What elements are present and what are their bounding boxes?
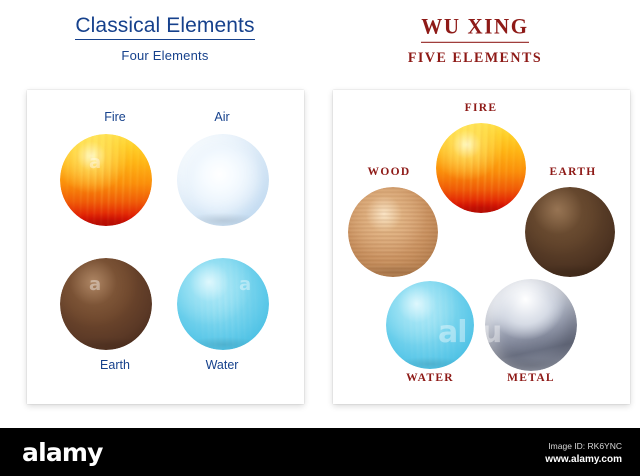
sphere-shading [177,134,269,226]
element-sphere-earth [60,258,152,350]
left-panel-heading: Classical Elements Four Elements [10,14,320,63]
element-sphere-wood [348,187,438,277]
element-label-earth: Earth [55,358,175,372]
element-label-metal: METAL [471,372,591,384]
image-id-text: Image ID: RK6YNC [545,441,622,452]
right-panel-subtitle: FIVE ELEMENTS [320,51,630,67]
sphere-texture [348,187,438,277]
element-label-water: Water [162,358,282,372]
element-sphere-fire [60,134,152,226]
element-sphere-air [177,134,269,226]
element-label-wood: WOOD [329,166,449,178]
sphere-texture [60,134,152,226]
left-panel-subtitle: Four Elements [10,48,320,63]
element-label-air: Air [162,110,282,124]
alamy-logo: alamy [22,440,103,465]
element-sphere-metal [485,279,577,371]
sphere-texture [386,281,474,369]
element-label-fire: Fire [55,110,175,124]
footer-metadata: Image ID: RK6YNC www.alamy.com [545,441,622,467]
element-sphere-fire [436,123,526,213]
sphere-texture [177,258,269,350]
right-panel-heading: WU XING FIVE ELEMENTS [320,14,630,67]
alamy-url-text: www.alamy.com [545,453,622,467]
sphere-texture [436,123,526,213]
element-label-earth: EARTH [513,166,633,178]
element-label-fire: FIRE [421,102,541,114]
element-sphere-water [386,281,474,369]
right-panel-title: WU XING [421,13,528,43]
element-sphere-water [177,258,269,350]
sphere-shading [525,187,615,277]
left-panel-title: Classical Elements [75,14,254,40]
element-sphere-earth [525,187,615,277]
artwork-stage: Classical Elements Four Elements WU XING… [0,0,640,428]
element-label-water: WATER [370,372,490,384]
four-elements-card: Fire Air Earth Water a a a [27,90,304,404]
sphere-shading [485,279,577,371]
wu-xing-card: FIRE WOOD EARTH WATER METAL al u [333,90,630,404]
sphere-shading [60,258,152,350]
alamy-footer-bar: alamy Image ID: RK6YNC www.alamy.com [0,428,640,476]
